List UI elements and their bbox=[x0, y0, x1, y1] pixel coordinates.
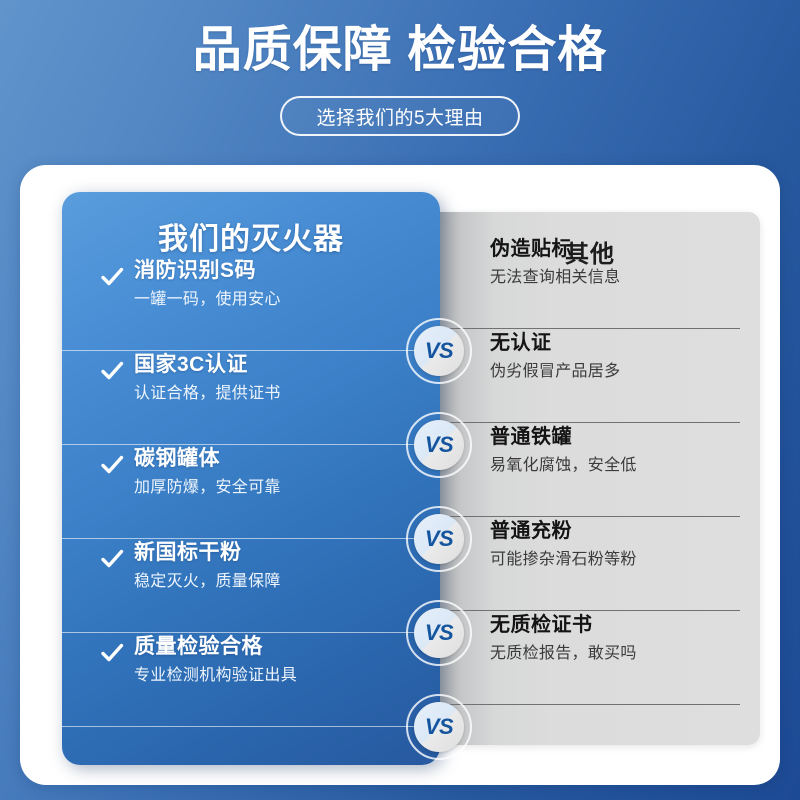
vs-badge: VS bbox=[406, 318, 472, 384]
vs-badge-label: VS bbox=[425, 716, 453, 738]
vs-badge: VS bbox=[406, 506, 472, 572]
promo-banner: 品质保障 检验合格 选择我们的5大理由 其他 我们的灭火器 bbox=[0, 0, 800, 800]
vs-badge-label: VS bbox=[425, 434, 453, 456]
reasons-pill-button[interactable]: 选择我们的5大理由 bbox=[280, 96, 520, 136]
vs-badge: VS bbox=[406, 600, 472, 666]
vs-badge-group: VS VS VS VS VS bbox=[20, 165, 780, 785]
comparison-panels: 其他 我们的灭火器 消防识别S码 一罐一码，使用安心 bbox=[20, 165, 780, 785]
vs-badge-label: VS bbox=[425, 340, 453, 362]
vs-badge: VS bbox=[406, 694, 472, 760]
comparison-container: 其他 我们的灭火器 消防识别S码 一罐一码，使用安心 bbox=[20, 165, 780, 785]
vs-badge-label: VS bbox=[425, 622, 453, 644]
page-title: 品质保障 检验合格 bbox=[0, 22, 800, 78]
banner-header: 品质保障 检验合格 选择我们的5大理由 bbox=[0, 0, 800, 165]
vs-badge: VS bbox=[406, 412, 472, 478]
reasons-pill-label: 选择我们的5大理由 bbox=[316, 103, 483, 130]
vs-badge-label: VS bbox=[425, 528, 453, 550]
